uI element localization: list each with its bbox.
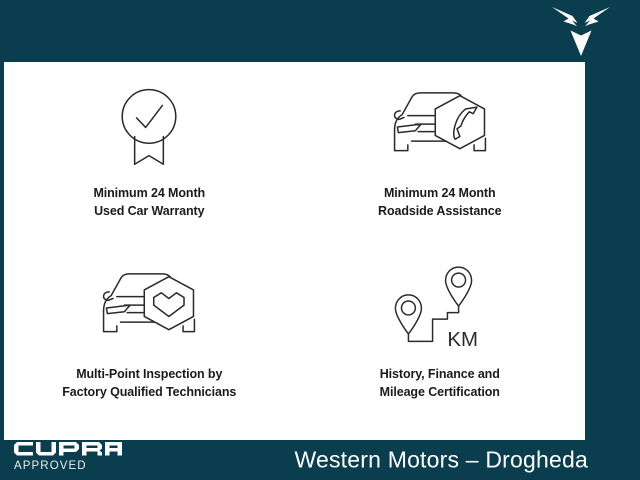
footer-bar: APPROVED Western Motors – Drogheda xyxy=(0,440,640,480)
feature-label-inspection: Multi-Point Inspection by Factory Qualif… xyxy=(62,365,236,401)
feature-line-2: Used Car Warranty xyxy=(93,202,205,220)
benefits-card: Minimum 24 Month Used Car Warranty xyxy=(4,62,585,440)
header-bar xyxy=(0,0,640,62)
feature-label-warranty: Minimum 24 Month Used Car Warranty xyxy=(93,184,205,220)
dealer-name: Western Motors – Drogheda xyxy=(295,447,589,474)
feature-label-roadside: Minimum 24 Month Roadside Assistance xyxy=(378,184,501,220)
feature-line-1: Multi-Point Inspection by xyxy=(76,367,222,381)
cupra-wordmark-icon xyxy=(14,442,122,459)
warranty-badge-check-icon xyxy=(105,80,193,172)
cupra-approved-lockup: APPROVED xyxy=(14,442,122,472)
feature-item-roadside: Minimum 24 Month Roadside Assistance xyxy=(295,62,586,251)
feature-line-1: History, Finance and xyxy=(380,367,500,381)
feature-line-2: Factory Qualified Technicians xyxy=(62,383,236,401)
feature-line-2: Mileage Certification xyxy=(380,383,500,401)
benefits-grid: Minimum 24 Month Used Car Warranty xyxy=(4,62,585,440)
feature-item-inspection: Multi-Point Inspection by Factory Qualif… xyxy=(4,251,295,440)
map-pins-route-km-icon: KM xyxy=(388,261,492,353)
feature-line-1: Minimum 24 Month xyxy=(93,186,205,200)
feature-item-mileage: KM History, Finance and Mileage Certific… xyxy=(295,251,586,440)
car-inspection-heart-icon xyxy=(96,261,202,353)
feature-line-1: Minimum 24 Month xyxy=(384,186,496,200)
feature-label-mileage: History, Finance and Mileage Certificati… xyxy=(380,365,500,401)
cupra-logo xyxy=(550,4,612,56)
approved-label: APPROVED xyxy=(14,460,122,472)
km-label: KM xyxy=(447,329,478,350)
feature-item-warranty: Minimum 24 Month Used Car Warranty xyxy=(4,62,295,251)
feature-line-2: Roadside Assistance xyxy=(378,202,501,220)
car-roadside-phone-icon xyxy=(387,80,493,172)
